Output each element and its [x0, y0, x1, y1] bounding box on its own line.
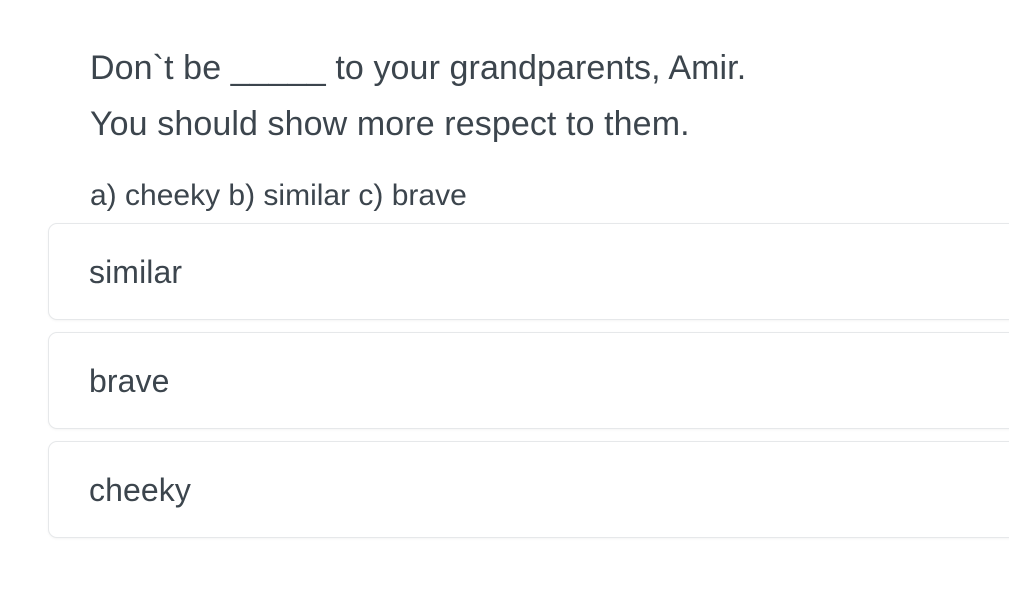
answer-option-label: cheeky	[49, 472, 191, 508]
answer-option-label: similar	[49, 254, 182, 290]
answer-option-similar[interactable]: similar	[48, 223, 1009, 320]
answer-option-label: brave	[49, 363, 170, 399]
quiz-screen: Don`t be _____ to your grandparents, Ami…	[0, 0, 1009, 614]
question-line-1: Don`t be _____ to your grandparents, Ami…	[90, 40, 990, 96]
question-line-2: You should show more respect to them.	[90, 96, 990, 152]
choices-reference-line: a) cheeky b) similar c) brave	[90, 176, 467, 216]
answer-option-cheeky[interactable]: cheeky	[48, 441, 1009, 538]
answer-options-list: similar brave cheeky	[48, 223, 1009, 550]
question-block: Don`t be _____ to your grandparents, Ami…	[90, 40, 990, 152]
answer-option-brave[interactable]: brave	[48, 332, 1009, 429]
